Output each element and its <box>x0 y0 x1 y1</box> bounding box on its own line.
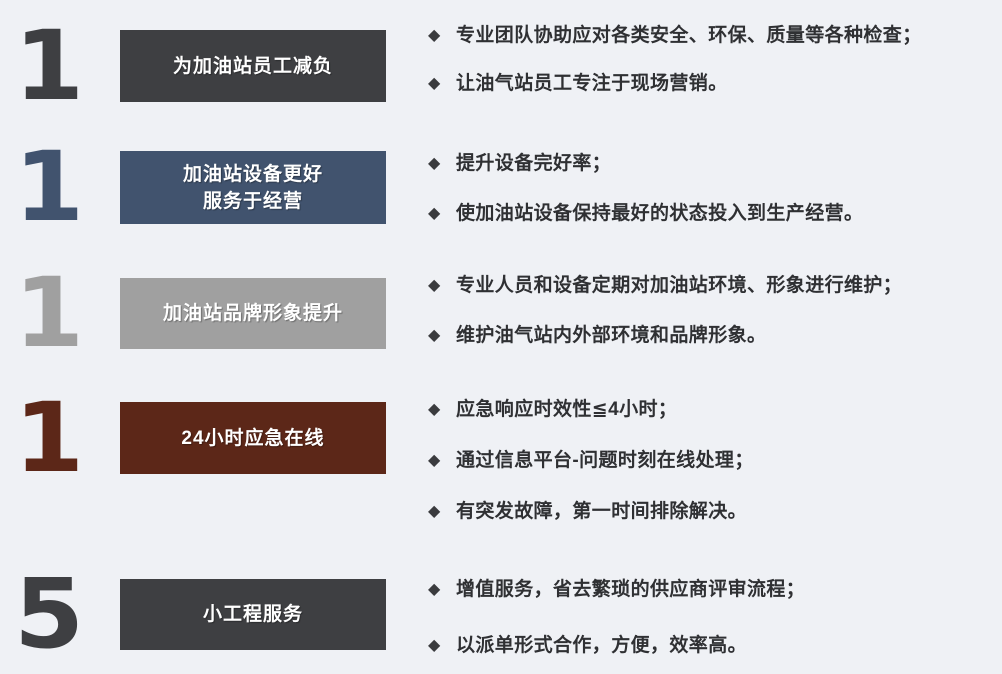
row-label-box[interactable]: 加油站品牌形象提升 <box>120 278 386 349</box>
bullet-text: 专业团队协助应对各类安全、环保、质量等各种检查； <box>456 24 988 48</box>
row-label-box[interactable]: 24小时应急在线 <box>120 402 386 474</box>
row-label-text: 加油站设备更好服务于经营 <box>183 161 323 215</box>
bullet-item: ◆维护油气站内外部环境和品牌形象。 <box>428 324 988 348</box>
row-number: 1 <box>14 402 82 474</box>
row-number: 5 <box>14 579 82 650</box>
feature-row: 1加油站设备更好服务于经营◆提升设备完好率；◆使加油站设备保持最好的状态投入到生… <box>0 151 1002 224</box>
diamond-bullet-icon: ◆ <box>428 578 456 602</box>
row-label-box[interactable]: 为加油站员工减负 <box>120 30 386 102</box>
row-label-line: 加油站品牌形象提升 <box>163 300 343 327</box>
diamond-bullet-icon: ◆ <box>428 152 456 176</box>
infographic-board: 1为加油站员工减负◆专业团队协助应对各类安全、环保、质量等各种检查；◆让油气站员… <box>0 0 1002 674</box>
bullet-text: 提升设备完好率； <box>456 152 988 176</box>
bullet-item: ◆有突发故障，第一时间排除解决。 <box>428 500 988 524</box>
diamond-bullet-icon: ◆ <box>428 449 456 473</box>
bullet-text: 增值服务，省去繁琐的供应商评审流程； <box>456 578 988 602</box>
row-label-line: 24小时应急在线 <box>181 425 324 452</box>
row-number-cell: 1 <box>0 30 120 102</box>
row-label-box[interactable]: 加油站设备更好服务于经营 <box>120 151 386 224</box>
feature-row: 1为加油站员工减负◆专业团队协助应对各类安全、环保、质量等各种检查；◆让油气站员… <box>0 30 1002 102</box>
bullet-item: ◆专业人员和设备定期对加油站环境、形象进行维护； <box>428 274 988 298</box>
row-label-line: 小工程服务 <box>203 601 303 628</box>
bullet-item: ◆专业团队协助应对各类安全、环保、质量等各种检查； <box>428 24 988 48</box>
row-number: 1 <box>14 151 82 224</box>
row-label-line: 为加油站员工减负 <box>173 53 333 80</box>
bullet-item: ◆应急响应时效性≦4小时； <box>428 398 988 422</box>
bullet-item: ◆以派单形式合作，方便，效率高。 <box>428 634 988 658</box>
bullet-item: ◆提升设备完好率； <box>428 152 988 176</box>
row-label-line: 服务于经营 <box>183 188 323 215</box>
diamond-bullet-icon: ◆ <box>428 324 456 348</box>
bullet-item: ◆使加油站设备保持最好的状态投入到生产经营。 <box>428 202 988 226</box>
row-number-cell: 1 <box>0 151 120 224</box>
row-label-cell: 加油站设备更好服务于经营 <box>120 151 386 224</box>
bullet-item: ◆让油气站员工专注于现场营销。 <box>428 72 988 96</box>
bullet-text: 以派单形式合作，方便，效率高。 <box>456 634 988 658</box>
bullet-text: 维护油气站内外部环境和品牌形象。 <box>456 324 988 348</box>
row-label-text: 小工程服务 <box>203 601 303 628</box>
row-label-cell: 加油站品牌形象提升 <box>120 278 386 349</box>
row-number-cell: 1 <box>0 402 120 474</box>
row-label-text: 24小时应急在线 <box>181 425 324 452</box>
row-number-cell: 5 <box>0 579 120 650</box>
diamond-bullet-icon: ◆ <box>428 72 456 96</box>
row-label-box[interactable]: 小工程服务 <box>120 579 386 650</box>
bullet-item: ◆增值服务，省去繁琐的供应商评审流程； <box>428 578 988 602</box>
diamond-bullet-icon: ◆ <box>428 24 456 48</box>
bullet-text: 让油气站员工专注于现场营销。 <box>456 72 988 96</box>
feature-row: 5小工程服务◆增值服务，省去繁琐的供应商评审流程；◆以派单形式合作，方便，效率高… <box>0 579 1002 650</box>
row-label-cell: 24小时应急在线 <box>120 402 386 474</box>
row-number-cell: 1 <box>0 278 120 349</box>
bullet-item: ◆通过信息平台-问题时刻在线处理； <box>428 449 988 473</box>
bullet-text: 使加油站设备保持最好的状态投入到生产经营。 <box>456 202 988 226</box>
feature-row: 1加油站品牌形象提升◆专业人员和设备定期对加油站环境、形象进行维护；◆维护油气站… <box>0 278 1002 349</box>
feature-row: 124小时应急在线◆应急响应时效性≦4小时；◆通过信息平台-问题时刻在线处理；◆… <box>0 402 1002 474</box>
diamond-bullet-icon: ◆ <box>428 500 456 524</box>
diamond-bullet-icon: ◆ <box>428 398 456 422</box>
bullet-text: 应急响应时效性≦4小时； <box>456 398 988 422</box>
row-label-cell: 为加油站员工减负 <box>120 30 386 102</box>
row-label-line: 加油站设备更好 <box>183 161 323 188</box>
row-label-text: 为加油站员工减负 <box>173 53 333 80</box>
bullet-text: 专业人员和设备定期对加油站环境、形象进行维护； <box>456 274 988 298</box>
diamond-bullet-icon: ◆ <box>428 202 456 226</box>
row-number: 1 <box>14 30 82 102</box>
diamond-bullet-icon: ◆ <box>428 634 456 658</box>
bullet-text: 通过信息平台-问题时刻在线处理； <box>456 449 988 473</box>
row-number: 1 <box>14 278 82 349</box>
row-label-text: 加油站品牌形象提升 <box>163 300 343 327</box>
diamond-bullet-icon: ◆ <box>428 274 456 298</box>
row-label-cell: 小工程服务 <box>120 579 386 650</box>
bullet-text: 有突发故障，第一时间排除解决。 <box>456 500 988 524</box>
